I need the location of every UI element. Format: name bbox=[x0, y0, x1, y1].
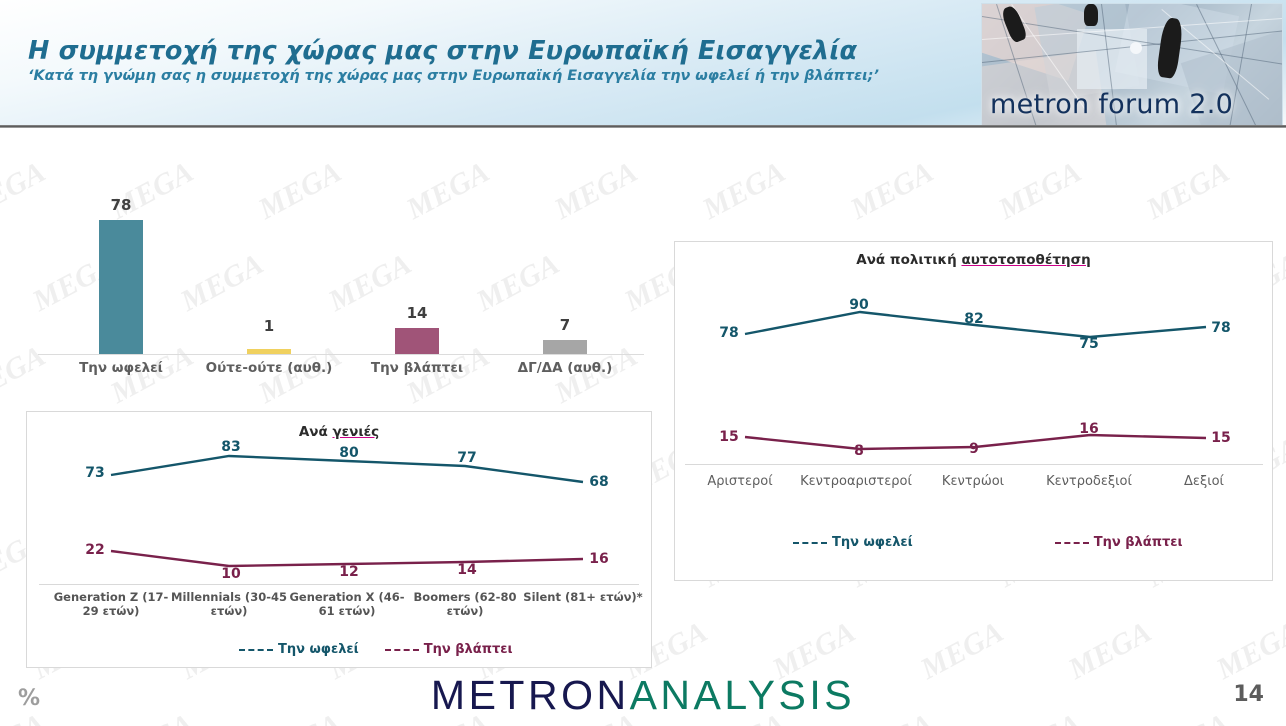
data-label: 14 bbox=[457, 562, 476, 578]
header-divider bbox=[0, 125, 1286, 128]
legend-dash-icon bbox=[239, 649, 273, 651]
legend-label: Την ωφελεί bbox=[832, 535, 913, 550]
political-placement-panel: Ανά πολιτική αυτοτοποθέτηση 78 90 82 75 … bbox=[674, 241, 1273, 581]
watermark-text: MEGA bbox=[993, 155, 1087, 227]
x-axis-line bbox=[685, 464, 1263, 465]
bar-rect bbox=[543, 340, 587, 354]
data-label: 90 bbox=[849, 297, 868, 313]
bar-group: 14 Την βλάπτει bbox=[342, 182, 492, 354]
brand-part-metron: METRON bbox=[431, 672, 630, 718]
bar-chart-axis bbox=[38, 354, 644, 355]
legend-label: Την ωφελεί bbox=[278, 642, 359, 657]
bar-value: 7 bbox=[560, 316, 570, 334]
bar-category-label: Την βλάπτει bbox=[342, 360, 492, 376]
data-label: 78 bbox=[1211, 320, 1230, 336]
data-label: 78 bbox=[719, 325, 738, 341]
data-label: 16 bbox=[1079, 421, 1098, 437]
data-label: 75 bbox=[1079, 336, 1098, 352]
climber-figure-mid bbox=[1084, 4, 1098, 26]
watermark-text: MEGA bbox=[1141, 155, 1235, 227]
legend-dash-icon bbox=[385, 649, 419, 651]
legend-label: Την βλάπτει bbox=[1094, 535, 1183, 550]
political-plot: 78 90 82 75 78 15 8 9 16 15 Αριστεροί Κε… bbox=[675, 242, 1272, 580]
watermark-text: MEGA bbox=[845, 155, 939, 227]
x-tick-label: Generation Z (17-29 ετών) bbox=[51, 590, 171, 619]
legend-item-vlaptei: Την βλάπτει bbox=[385, 642, 513, 657]
x-tick-label: Boomers (62-80 ετών) bbox=[409, 590, 521, 619]
slide-footer: % METRONANALYSIS 14 bbox=[0, 660, 1286, 726]
bar-value: 1 bbox=[264, 317, 274, 335]
bar-group: 1 Ούτε-ούτε (αυθ.) bbox=[194, 182, 344, 354]
data-label: 68 bbox=[589, 474, 608, 490]
data-label: 9 bbox=[969, 441, 979, 457]
x-tick-label: Κεντροδεξιοί bbox=[1014, 474, 1164, 490]
legend-item-ofelei: Την ωφελεί bbox=[239, 642, 359, 657]
legend-dash-icon bbox=[793, 542, 827, 544]
x-tick-label: Millennials (30-45 ετών) bbox=[170, 590, 288, 619]
data-label: 15 bbox=[1211, 430, 1230, 446]
bar-value: 78 bbox=[111, 196, 132, 214]
metron-analysis-wordmark: METRONANALYSIS bbox=[431, 672, 855, 719]
generations-plot: 73 83 80 77 68 22 10 12 14 16 Generation… bbox=[27, 412, 651, 667]
slide-header: Η συμμετοχή της χώρας μας στην Ευρωπαϊκή… bbox=[0, 0, 1286, 127]
legend-dash-icon bbox=[1055, 542, 1089, 544]
generations-panel: Ανά γενιές 73 83 80 77 68 22 10 12 14 16… bbox=[26, 411, 652, 668]
x-tick-label: Generation X (46-61 ετών) bbox=[288, 590, 406, 619]
main-bar-chart: 78 Την ωφελεί 1 Ούτε-ούτε (αυθ.) 14 Την … bbox=[0, 138, 660, 400]
legend-item-vlaptei: Την βλάπτει bbox=[1055, 535, 1183, 550]
data-label: 15 bbox=[719, 429, 738, 445]
data-label: 82 bbox=[964, 311, 983, 327]
bar-category-label: Ούτε-ούτε (αυθ.) bbox=[194, 360, 344, 376]
percent-symbol: % bbox=[18, 686, 40, 711]
data-label: 73 bbox=[85, 465, 104, 481]
political-legend: Την ωφελεί Την βλάπτει bbox=[793, 535, 1183, 550]
political-lines bbox=[675, 242, 1272, 580]
logo-wordmark: metron forum 2.0 bbox=[990, 89, 1278, 120]
page-subtitle: ‘Κατά τη γνώμη σας η συμμετοχή της χώρας… bbox=[28, 68, 968, 84]
page-number: 14 bbox=[1233, 682, 1264, 707]
generations-legend: Την ωφελεί Την βλάπτει bbox=[239, 642, 513, 657]
bar-rect bbox=[395, 328, 439, 354]
data-label: 77 bbox=[457, 450, 476, 466]
x-axis-line bbox=[39, 584, 639, 585]
bar-group: 78 Την ωφελεί bbox=[46, 182, 196, 354]
data-label: 8 bbox=[854, 443, 864, 459]
bar-category-label: Την ωφελεί bbox=[46, 360, 196, 376]
data-label: 83 bbox=[221, 439, 240, 455]
x-tick-label: Silent (81+ ετών)* bbox=[523, 590, 643, 604]
bar-value: 14 bbox=[407, 304, 428, 322]
bar-rect bbox=[247, 349, 291, 354]
bar-group: 7 ΔΓ/ΔΑ (αυθ.) bbox=[490, 182, 640, 354]
metron-forum-logo: metron forum 2.0 bbox=[981, 3, 1283, 126]
data-label: 12 bbox=[339, 564, 358, 580]
bar-rect bbox=[99, 220, 143, 354]
legend-item-ofelei: Την ωφελεί bbox=[793, 535, 913, 550]
bar-category-label: ΔΓ/ΔΑ (αυθ.) bbox=[490, 360, 640, 376]
data-label: 16 bbox=[589, 551, 608, 567]
brand-part-analysis: ANALYSIS bbox=[630, 672, 856, 718]
data-label: 80 bbox=[339, 445, 358, 461]
page-title: Η συμμετοχή της χώρας μας στην Ευρωπαϊκή… bbox=[28, 36, 958, 66]
data-label: 10 bbox=[221, 566, 240, 582]
legend-label: Την βλάπτει bbox=[424, 642, 513, 657]
data-label: 22 bbox=[85, 542, 104, 558]
x-tick-label: Δεξιοί bbox=[1149, 474, 1259, 490]
watermark-text: MEGA bbox=[697, 155, 791, 227]
